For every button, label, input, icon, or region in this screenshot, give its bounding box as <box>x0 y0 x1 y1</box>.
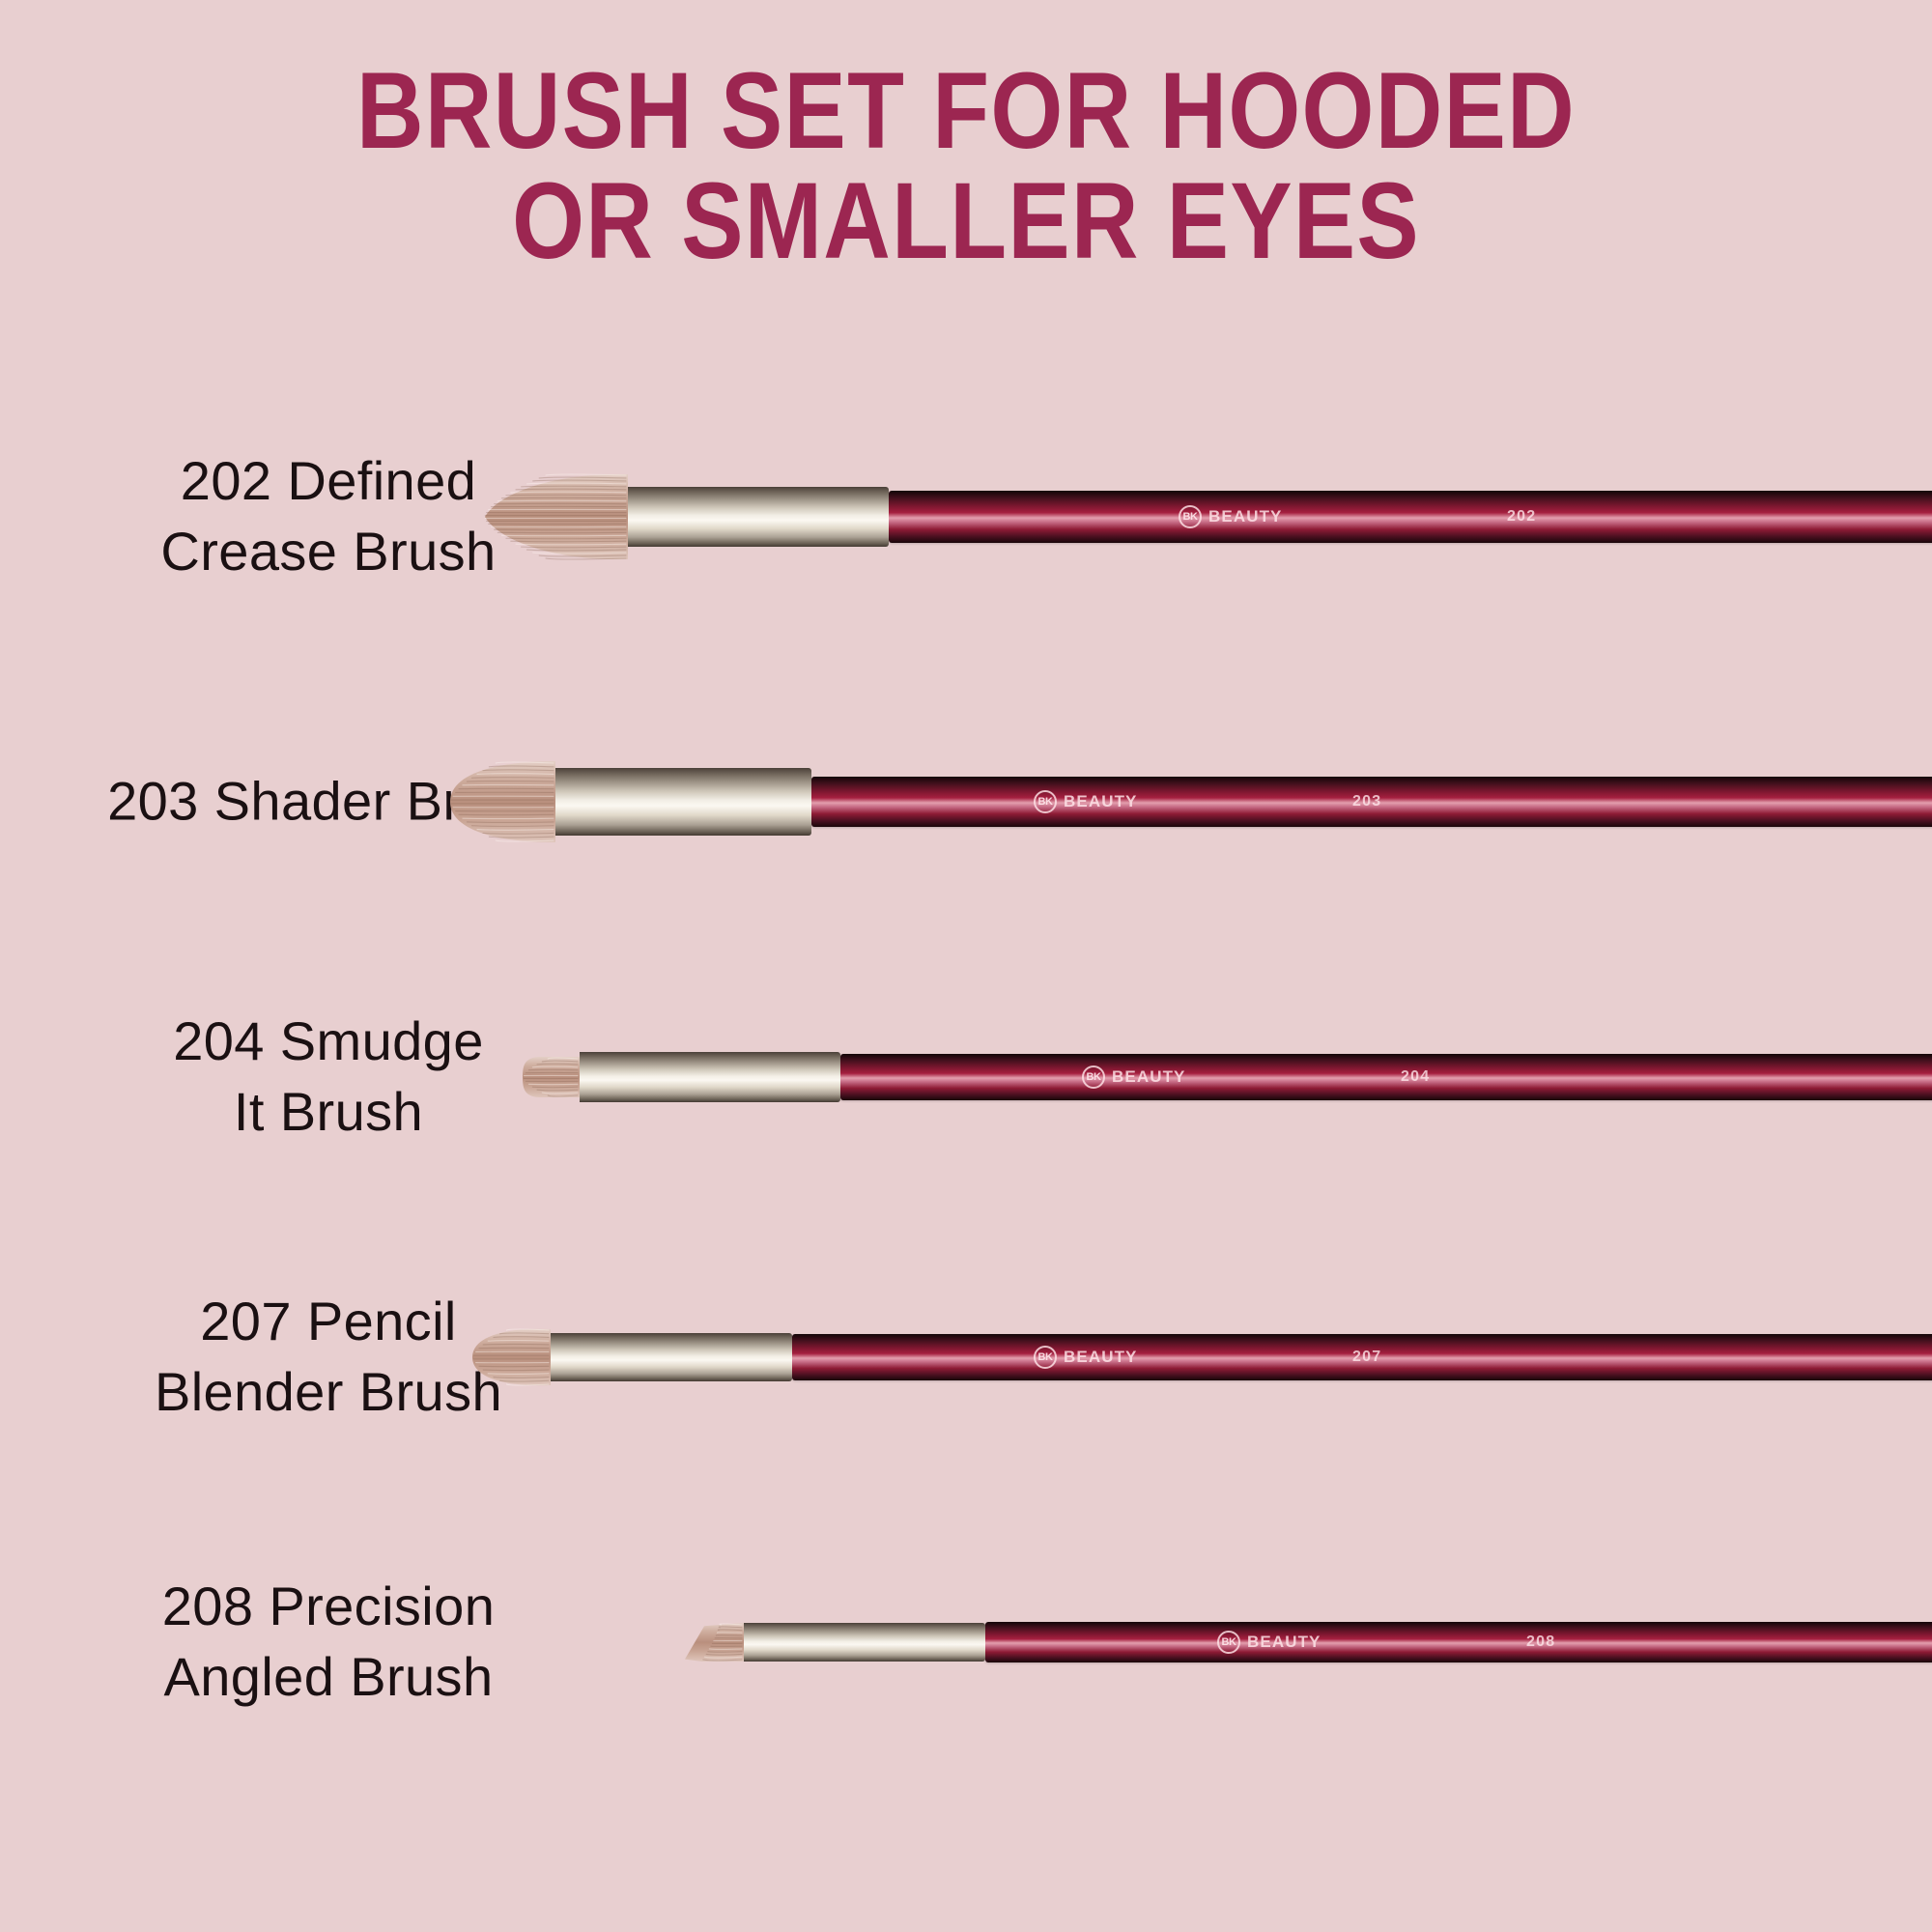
brush-row[interactable]: 202 DefinedCrease BrushBKBEAUTY202 <box>0 391 1932 642</box>
brush-bristles <box>449 760 555 843</box>
brush-bristles <box>471 1327 551 1387</box>
brush-handle <box>985 1622 1932 1662</box>
brush-row[interactable]: 203 Shader BrushBKBEAUTY203 <box>0 676 1932 927</box>
brush-ferrule <box>580 1052 840 1102</box>
brush-ferrule <box>744 1623 985 1662</box>
brush-label-line-2: Angled Brush <box>39 1642 618 1713</box>
brush-image[interactable]: BKBEAUTY203 <box>449 749 1932 855</box>
brush-row[interactable]: 208 PrecisionAngled BrushBKBEAUTY208 <box>0 1517 1932 1768</box>
brush-handle <box>811 777 1932 827</box>
brush-handle <box>840 1054 1932 1100</box>
brush-image[interactable]: BKBEAUTY204 <box>522 1024 1932 1130</box>
brush-image[interactable]: BKBEAUTY207 <box>471 1304 1932 1410</box>
brush-ferrule <box>555 768 811 836</box>
page-title-line-2: OR SMALLER EYES <box>135 166 1797 276</box>
brush-image[interactable]: BKBEAUTY208 <box>684 1589 1932 1695</box>
brush-bristles <box>483 472 628 561</box>
brush-label-line-1: 208 Precision <box>39 1572 618 1642</box>
brush-ferrule <box>551 1333 792 1381</box>
brush-row[interactable]: 207 PencilBlender BrushBKBEAUTY207 <box>0 1232 1932 1483</box>
page-title-line-1: BRUSH SET FOR HOODED <box>135 56 1797 166</box>
brush-handle <box>889 491 1932 543</box>
brush-image[interactable]: BKBEAUTY202 <box>483 464 1932 570</box>
brush-ferrule <box>628 487 889 547</box>
brush-handle <box>792 1334 1932 1380</box>
brush-label: 208 PrecisionAngled Brush <box>39 1572 618 1713</box>
brush-bristles <box>522 1056 580 1098</box>
brush-bristles <box>684 1622 744 1662</box>
page-title: BRUSH SET FOR HOODED OR SMALLER EYES <box>0 56 1932 276</box>
brush-row[interactable]: 204 SmudgeIt BrushBKBEAUTY204 <box>0 952 1932 1203</box>
